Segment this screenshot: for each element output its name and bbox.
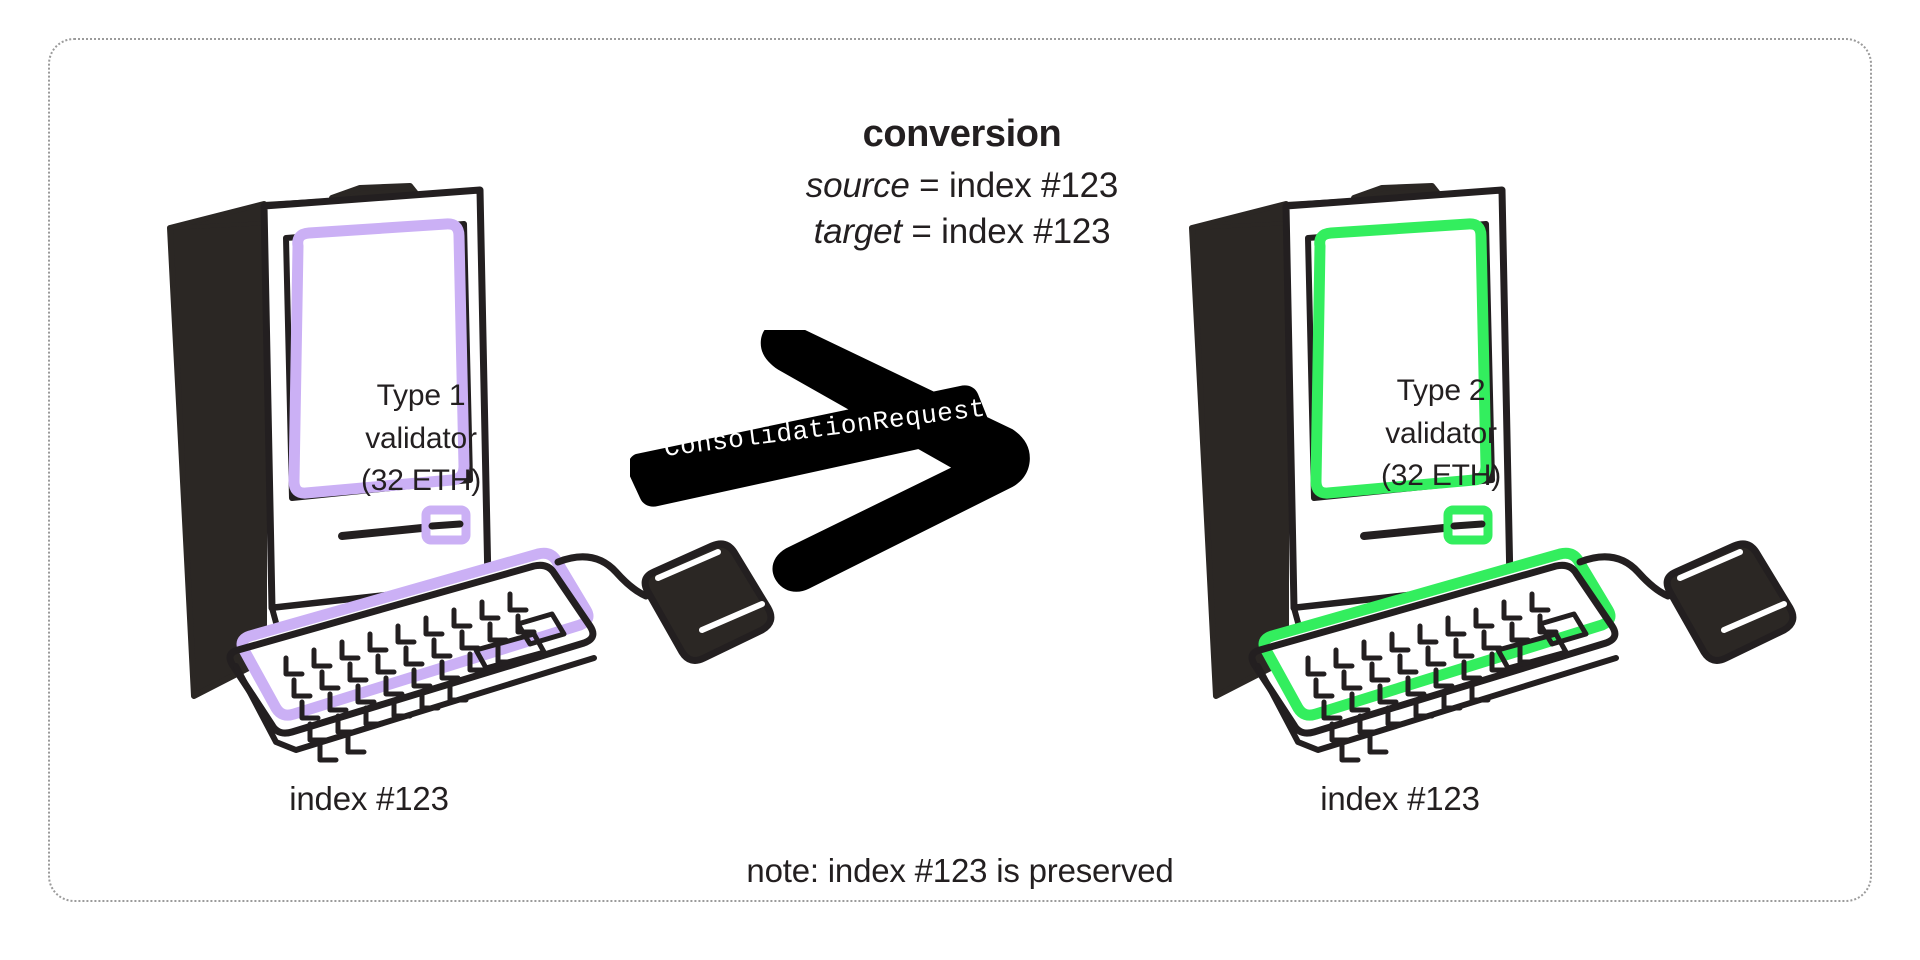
monitor-side-panel: [1192, 204, 1286, 696]
right-computer-svg: [1168, 180, 1868, 800]
crt-screen-accent: [294, 224, 464, 493]
monitor-side-panel: [170, 204, 264, 696]
floppy-drive-inner-line: [1454, 524, 1482, 526]
floppy-drive-inner-line: [432, 524, 460, 526]
param-target-value: index #123: [941, 212, 1110, 251]
right-computer-illustration: Type 2 validator (32 ETH): [1168, 180, 1868, 800]
crt-screen-accent: [1316, 224, 1486, 493]
conversion-arrow-svg: [630, 330, 1190, 600]
left-index-caption: index #123: [169, 780, 569, 818]
mouse: [1667, 544, 1793, 660]
diagram-stage: conversion source = index #123 target = …: [50, 40, 1870, 900]
figure-frame: conversion source = index #123 target = …: [48, 38, 1872, 902]
param-source-value: index #123: [949, 166, 1118, 205]
param-source-separator: =: [910, 166, 949, 205]
page-title: conversion: [690, 110, 1234, 159]
right-index-caption: index #123: [1200, 780, 1600, 818]
param-target-separator: =: [902, 212, 941, 251]
conversion-arrow-group: ConsolidationRequest: [630, 330, 1190, 600]
note-text: note: index #123 is preserved: [50, 852, 1870, 890]
